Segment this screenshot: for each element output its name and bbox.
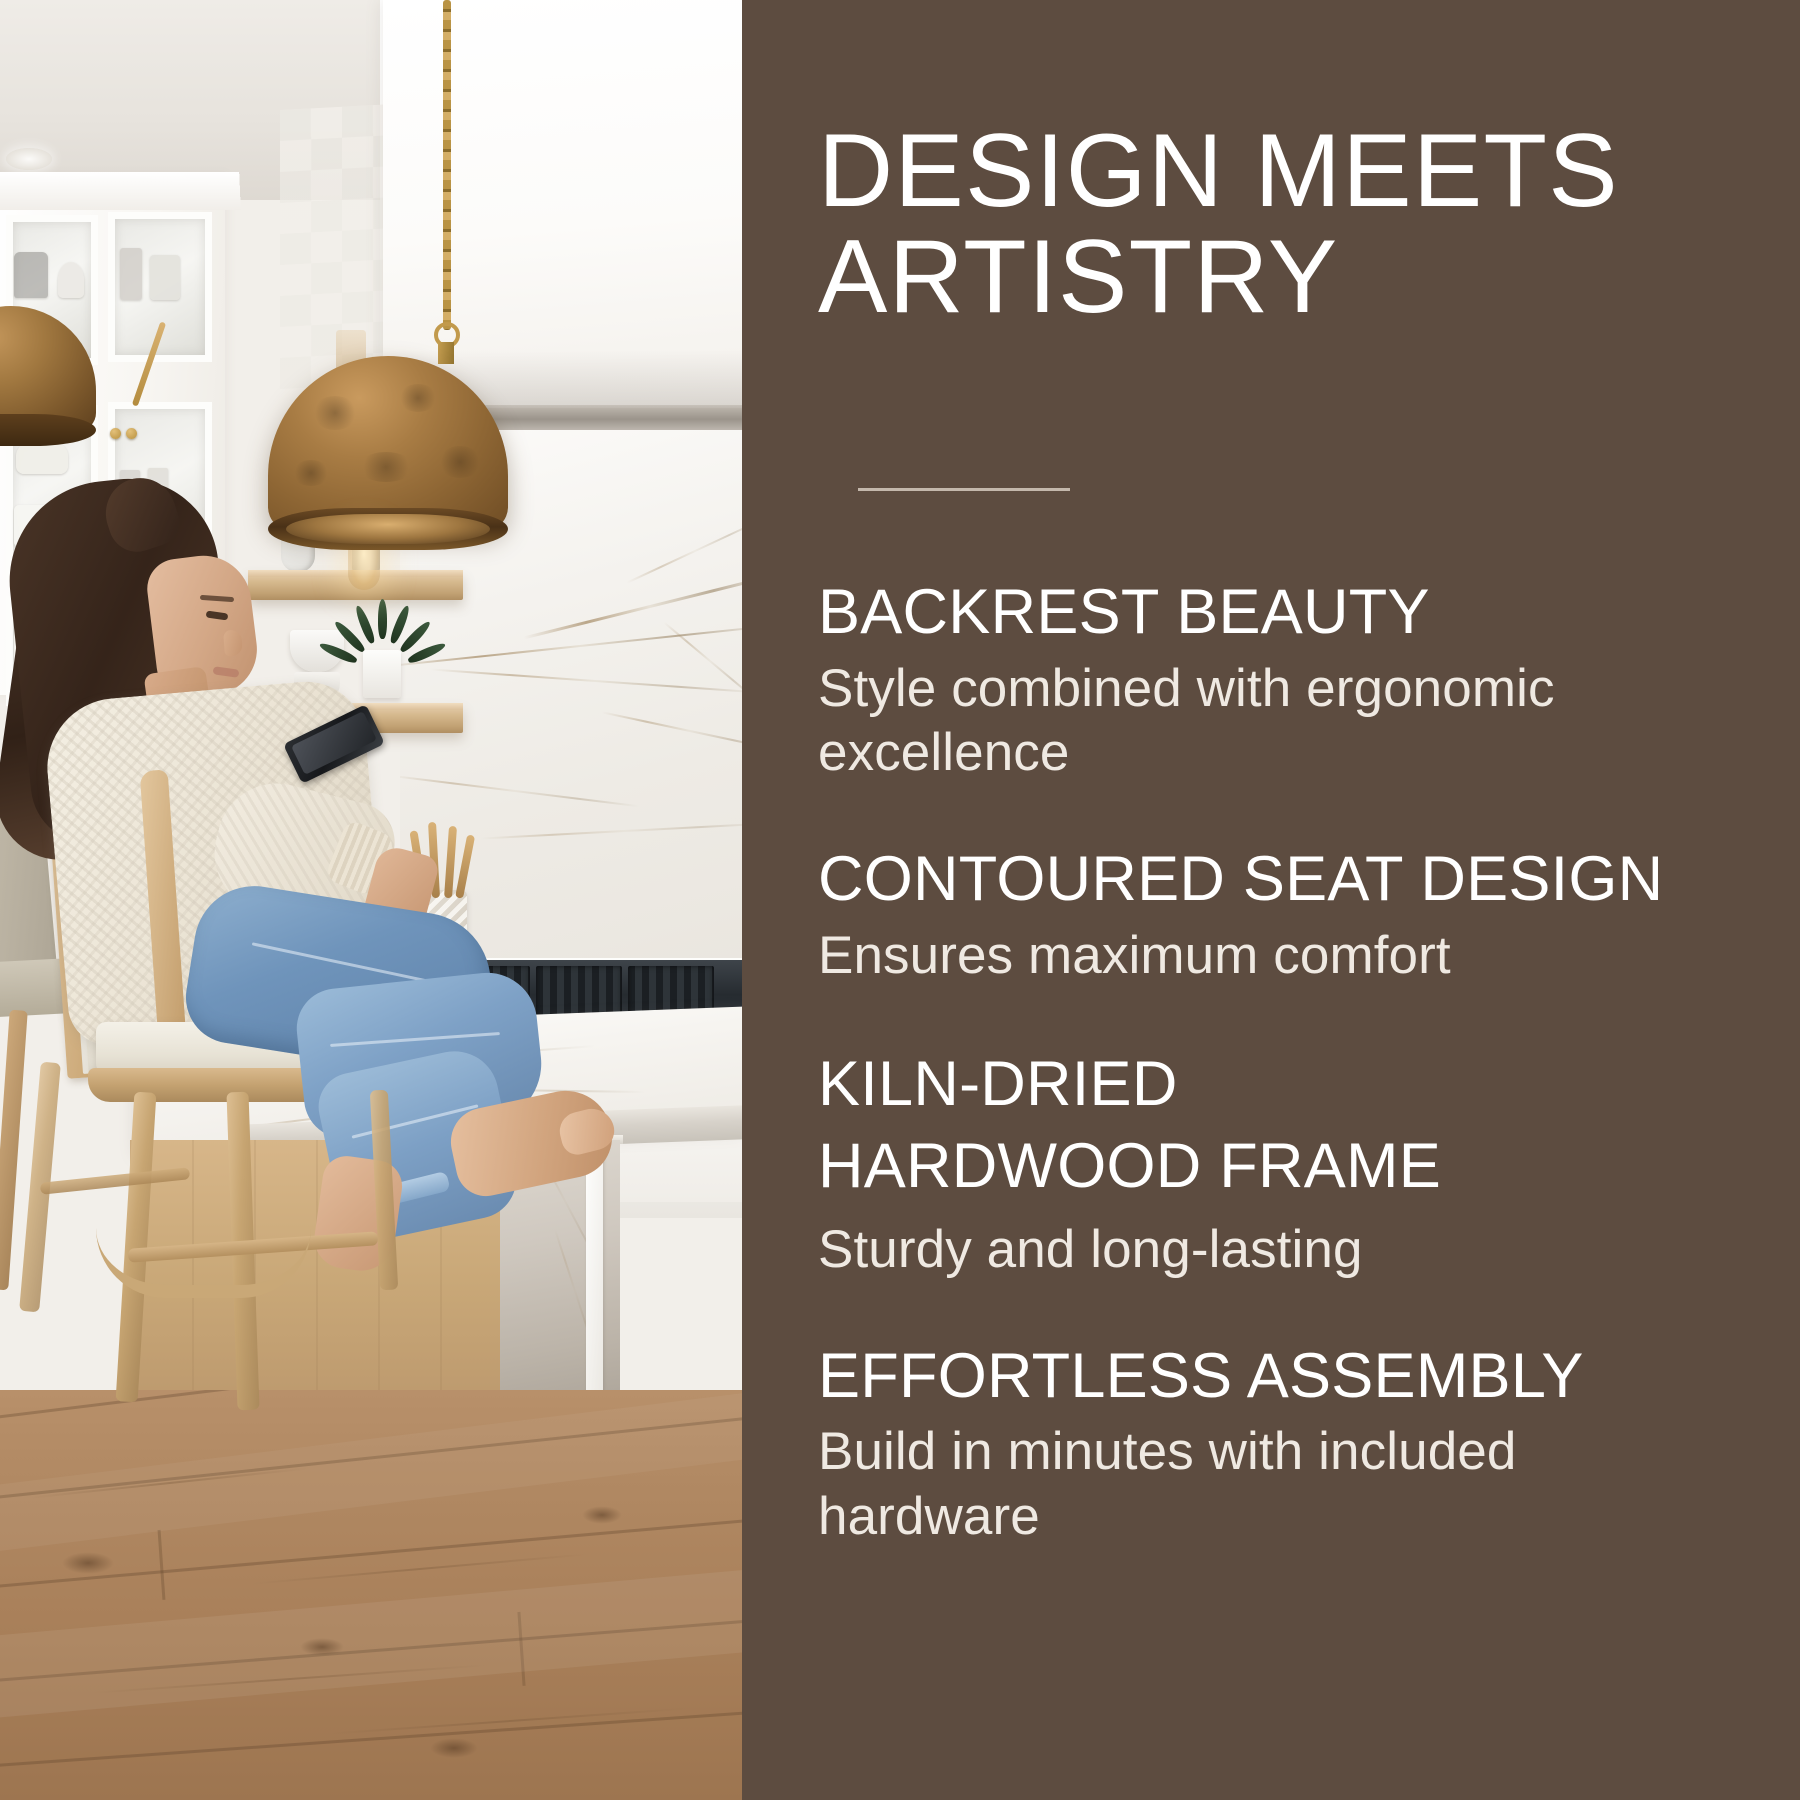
oak-floor	[0, 1390, 742, 1800]
wood-knot	[582, 1506, 622, 1524]
range-hood	[383, 0, 742, 410]
patina-speck	[358, 452, 414, 482]
plant-leaf	[378, 599, 387, 639]
headline-divider	[858, 488, 1070, 491]
marble-vein	[627, 518, 742, 583]
cabinet-dishware	[150, 255, 180, 300]
feature-title: KILN-DRIED HARDWOOD FRAME	[818, 1044, 1748, 1208]
cabinet-dishware	[58, 262, 84, 298]
cabinet-crown-molding	[0, 172, 241, 210]
marble-vein	[480, 822, 742, 839]
cabinet-knob-icon	[126, 428, 137, 439]
feature-item-backrest-beauty: BACKREST BEAUTY Style combined with ergo…	[818, 575, 1748, 786]
feature-item-contoured-seat-design: CONTOURED SEAT DESIGN Ensures maximum co…	[818, 842, 1748, 988]
pendant-stem	[438, 342, 454, 364]
infographic-canvas: DESIGN MEETSARTISTRY BACKREST BEAUTY Sty…	[0, 0, 1800, 1800]
feature-description: Sturdy and long-lasting	[818, 1218, 1748, 1283]
feature-title: EFFORTLESS ASSEMBLY	[818, 1339, 1748, 1415]
marble-vein	[430, 668, 742, 693]
floor-plank-tone	[0, 1390, 742, 1565]
feature-list: BACKREST BEAUTY Style combined with ergo…	[818, 575, 1748, 1550]
marble-vein	[400, 775, 639, 807]
pendant-chain	[443, 0, 451, 330]
plant-pot	[363, 650, 401, 698]
marble-vein	[602, 711, 742, 750]
cabinet-dishware	[14, 252, 48, 298]
marble-vein	[524, 574, 742, 639]
feature-text-panel: DESIGN MEETSARTISTRY BACKREST BEAUTY Sty…	[742, 0, 1800, 1800]
cabinet-dishware	[120, 248, 142, 300]
pendant-inner-shade	[286, 514, 490, 544]
potted-succulent	[350, 595, 420, 655]
patina-speck	[438, 446, 482, 478]
feature-title: BACKREST BEAUTY	[818, 575, 1748, 651]
patina-speck	[398, 384, 438, 412]
feature-description: Build in minutes with included hardware	[818, 1420, 1748, 1549]
feature-description: Ensures maximum comfort	[818, 924, 1748, 989]
feature-item-kiln-dried-hardwood-frame: KILN-DRIED HARDWOOD FRAME Sturdy and lon…	[818, 1044, 1748, 1282]
wood-knot	[300, 1638, 344, 1656]
headline-line-1: DESIGN MEETS	[818, 113, 1619, 229]
wood-knot	[430, 1738, 478, 1758]
feature-description: Style combined with ergonomic excellence	[818, 657, 1748, 786]
cabinet-knob-icon	[110, 428, 121, 439]
feature-item-effortless-assembly: EFFORTLESS ASSEMBLY Build in minutes wit…	[818, 1339, 1748, 1550]
wood-knot	[62, 1552, 114, 1574]
headline-line-2: ARTISTRY	[818, 224, 1718, 330]
patina-speck	[292, 460, 330, 486]
floor-plank-butt-joint	[158, 1530, 166, 1600]
product-lifestyle-photo	[0, 0, 742, 1800]
feature-title: CONTOURED SEAT DESIGN	[818, 842, 1748, 918]
patina-speck	[312, 396, 358, 430]
page-title: DESIGN MEETSARTISTRY	[818, 118, 1718, 330]
recessed-light-icon	[6, 148, 52, 170]
floor-plank-tone	[0, 1559, 742, 1728]
